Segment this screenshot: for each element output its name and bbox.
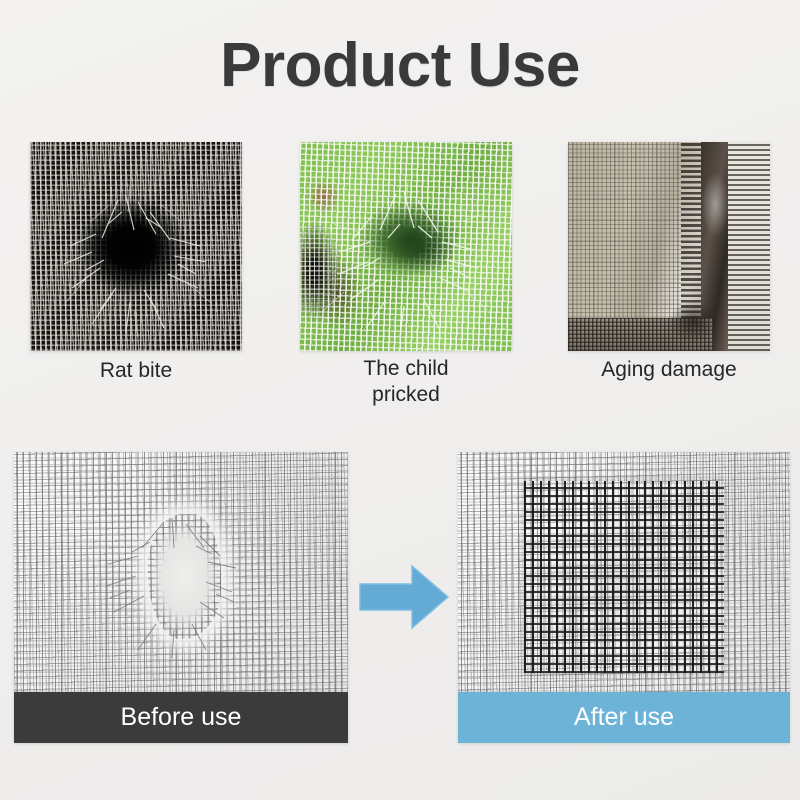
frayed-threads-icon <box>300 142 512 351</box>
after-image <box>458 452 790 692</box>
arrow-right-icon <box>358 560 450 634</box>
comparison-panel-before: Before use <box>14 452 348 743</box>
product-use-infographic: Product Use <box>0 0 800 800</box>
cause-image-child-prick <box>300 142 512 351</box>
before-label: Before use <box>121 703 242 732</box>
comparison-panel-after: After use <box>458 452 790 743</box>
after-label: After use <box>574 703 674 732</box>
caption-line-1: The child <box>296 356 516 382</box>
page-title: Product Use <box>0 30 800 101</box>
repair-patch <box>524 481 723 673</box>
dirt-smudge <box>568 142 770 351</box>
before-image <box>14 452 348 692</box>
cause-caption-child-prick: The child pricked <box>296 356 516 408</box>
after-label-banner: After use <box>458 692 790 743</box>
cause-caption-rat-bite: Rat bite <box>30 358 242 384</box>
cause-image-aging-damage <box>568 142 770 351</box>
cause-caption-aging-damage: Aging damage <box>560 357 778 383</box>
before-label-banner: Before use <box>14 692 348 743</box>
cause-image-rat-bite <box>30 142 242 351</box>
frayed-threads-icon <box>14 452 348 692</box>
frayed-threads-icon <box>30 142 242 351</box>
caption-line-2: pricked <box>296 382 516 408</box>
